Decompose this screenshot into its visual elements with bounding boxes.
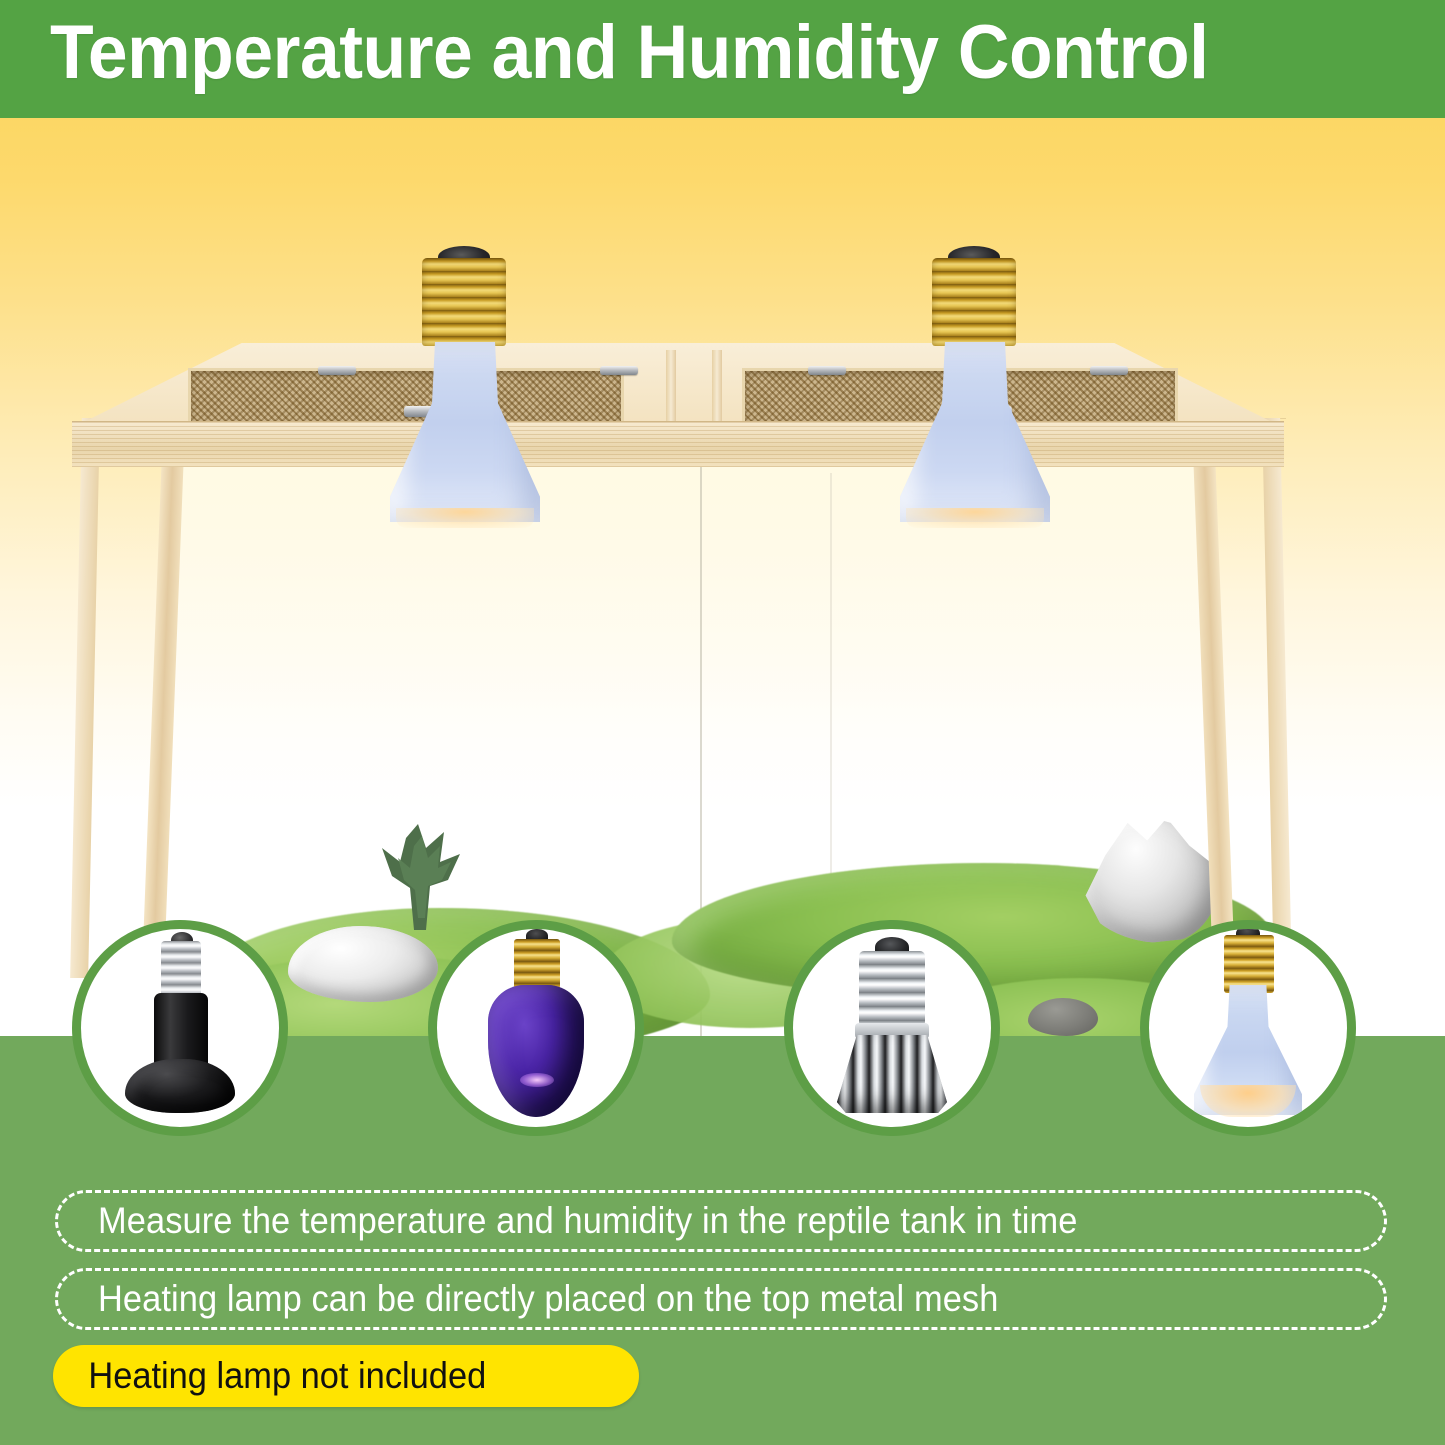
tank-leg-back-right xyxy=(1262,418,1292,978)
lid-hinge-1 xyxy=(318,366,356,375)
lid-divider-right xyxy=(712,350,722,430)
header-banner: Temperature and Humidity Control xyxy=(0,0,1445,118)
feature-callout-2-label: Heating lamp can be directly placed on t… xyxy=(58,1278,998,1320)
feature-callout-1-label: Measure the temperature and humidity in … xyxy=(58,1200,1077,1242)
bulb-filament-glow-icon xyxy=(520,1073,554,1087)
basking-bulb-on-lid-right xyxy=(900,258,1050,523)
bulb-glass-envelope-icon xyxy=(390,342,540,522)
feature-callout-2: Heating lamp can be directly placed on t… xyxy=(55,1268,1387,1330)
bulb-warm-glow-icon xyxy=(396,508,534,528)
ceramic-heat-emitter-icon xyxy=(125,941,235,1116)
plant-decoration-icon xyxy=(352,818,484,936)
bulb-circle-ceramic-heat-emitter xyxy=(72,920,288,1136)
bulb-gold-screw-base-icon xyxy=(932,258,1016,346)
bulb-circle-chrome-halogen xyxy=(784,920,1000,1136)
bulb-gold-screw-base-icon xyxy=(1224,935,1274,993)
bulb-circle-blue-basking-bulb xyxy=(1140,920,1356,1136)
chrome-halogen-bulb-icon xyxy=(831,939,953,1117)
bulb-warm-glow-icon xyxy=(906,508,1044,528)
tank-lid-front-face xyxy=(72,421,1284,467)
halogen-reflector-icon xyxy=(837,1035,947,1113)
bulb-circle-purple-night-bulb xyxy=(428,920,644,1136)
emitter-ceramic-disc-icon xyxy=(125,1059,235,1113)
blue-basking-bulb-icon xyxy=(1190,933,1306,1123)
lid-hinge-3 xyxy=(808,366,846,375)
halogen-silver-screw-base-icon xyxy=(859,951,925,1027)
notice-badge-label: Heating lamp not included xyxy=(53,1355,486,1397)
basking-bulb-on-lid-left xyxy=(390,258,540,523)
bulb-glass-envelope-icon xyxy=(900,342,1050,522)
tank-leg-back-left xyxy=(70,418,100,978)
purple-night-bulb-icon xyxy=(480,935,592,1121)
hero-product-photo xyxy=(0,118,1445,1043)
emitter-silver-screw-base-icon xyxy=(161,941,201,999)
small-rock-right xyxy=(1028,998,1098,1036)
lid-divider-left xyxy=(666,350,676,430)
feature-callout-1: Measure the temperature and humidity in … xyxy=(55,1190,1387,1252)
lid-hinge-4 xyxy=(1090,366,1128,375)
lid-hinge-2 xyxy=(600,366,638,375)
product-marketing-image: Temperature and Humidity Control xyxy=(0,0,1445,1445)
bulb-gold-screw-base-icon xyxy=(422,258,506,346)
purple-glass-envelope-icon xyxy=(488,985,584,1117)
page-title: Temperature and Humidity Control xyxy=(50,9,1209,96)
notice-badge: Heating lamp not included xyxy=(53,1345,639,1407)
